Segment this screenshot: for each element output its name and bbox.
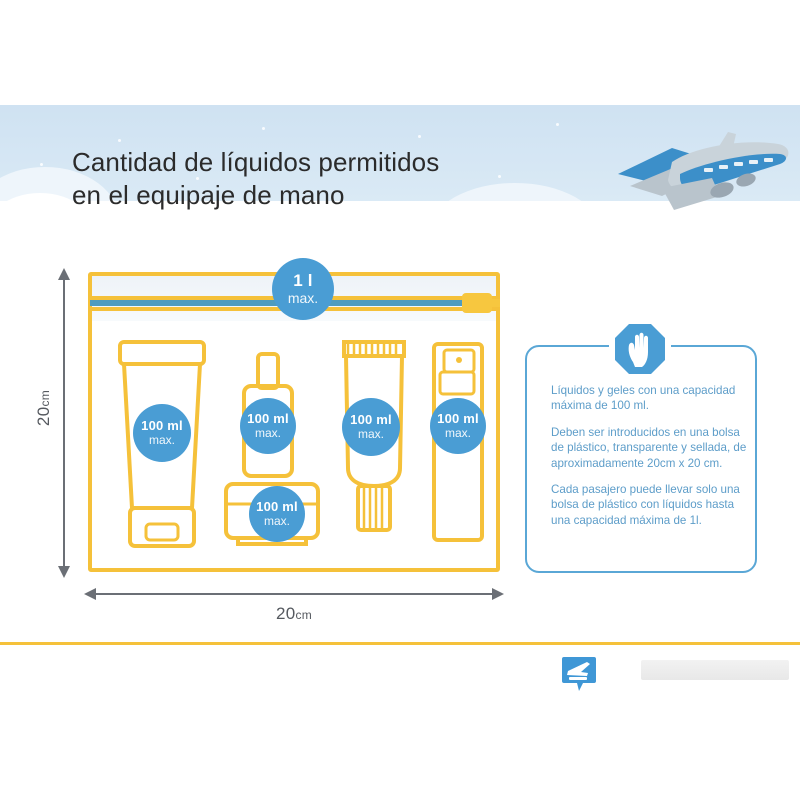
page-title: Cantidad de líquidos permitidos en el eq…: [72, 146, 542, 213]
item-badge-cream-jar: 100 ml max.: [249, 486, 305, 542]
airplane-icon: [600, 118, 800, 230]
dimension-label-width: 20cm: [244, 604, 344, 624]
item-badge-max: max.: [255, 427, 281, 440]
zipper-slider-tail: [488, 299, 500, 307]
width-unit: cm: [295, 608, 312, 622]
width-value: 20: [276, 604, 296, 623]
item-badge-value: 100 ml: [247, 412, 289, 426]
item-badge-spray-bottle: 100 ml max.: [430, 398, 486, 454]
dimension-label-height: 20cm: [34, 378, 54, 438]
item-badge-pump-bottle: 100 ml max.: [240, 398, 296, 454]
item-badge-max: max.: [149, 434, 175, 447]
title-line-2: en el equipaje de mano: [72, 179, 542, 212]
item-badge-max: max.: [358, 428, 384, 441]
height-value: 20: [34, 407, 53, 427]
panel-paragraph-2: Deben ser introducidos en una bolsa de p…: [551, 425, 751, 471]
item-badge-toothpaste-tube: 100 ml max.: [342, 398, 400, 456]
item-badge-squeeze-tube: 100 ml max.: [133, 404, 191, 462]
dimension-arrow-horizontal: [82, 584, 506, 604]
title-line-1: Cantidad de líquidos permitidos: [72, 147, 439, 177]
airplane-departure-badge-icon: [561, 655, 597, 693]
sky-fade: [0, 232, 800, 272]
capacity-badge-max: max.: [288, 291, 318, 306]
item-badge-max: max.: [445, 427, 471, 440]
capacity-badge-value: 1 l: [293, 272, 313, 290]
item-badge-value: 100 ml: [141, 419, 183, 433]
footer-logo-bar: [641, 660, 789, 680]
panel-paragraph-3: Cada pasajero puede llevar solo una bols…: [551, 482, 751, 528]
footer-divider: [0, 642, 800, 645]
panel-paragraph-1: Líquidos y geles con una capacidad máxim…: [551, 383, 751, 414]
item-badge-value: 100 ml: [256, 500, 298, 514]
height-unit: cm: [38, 390, 52, 407]
panel-text: Líquidos y geles con una capacidad máxim…: [551, 383, 751, 528]
stop-hand-icon: [613, 322, 667, 376]
item-badge-value: 100 ml: [350, 413, 392, 427]
item-badge-value: 100 ml: [437, 412, 479, 426]
dimension-arrow-vertical: [54, 266, 74, 580]
top-white-margin: [0, 0, 800, 105]
capacity-badge-1l: 1 l max.: [272, 258, 334, 320]
infographic-canvas: Cantidad de líquidos permitidos en el eq…: [0, 0, 800, 800]
item-badge-max: max.: [264, 515, 290, 528]
